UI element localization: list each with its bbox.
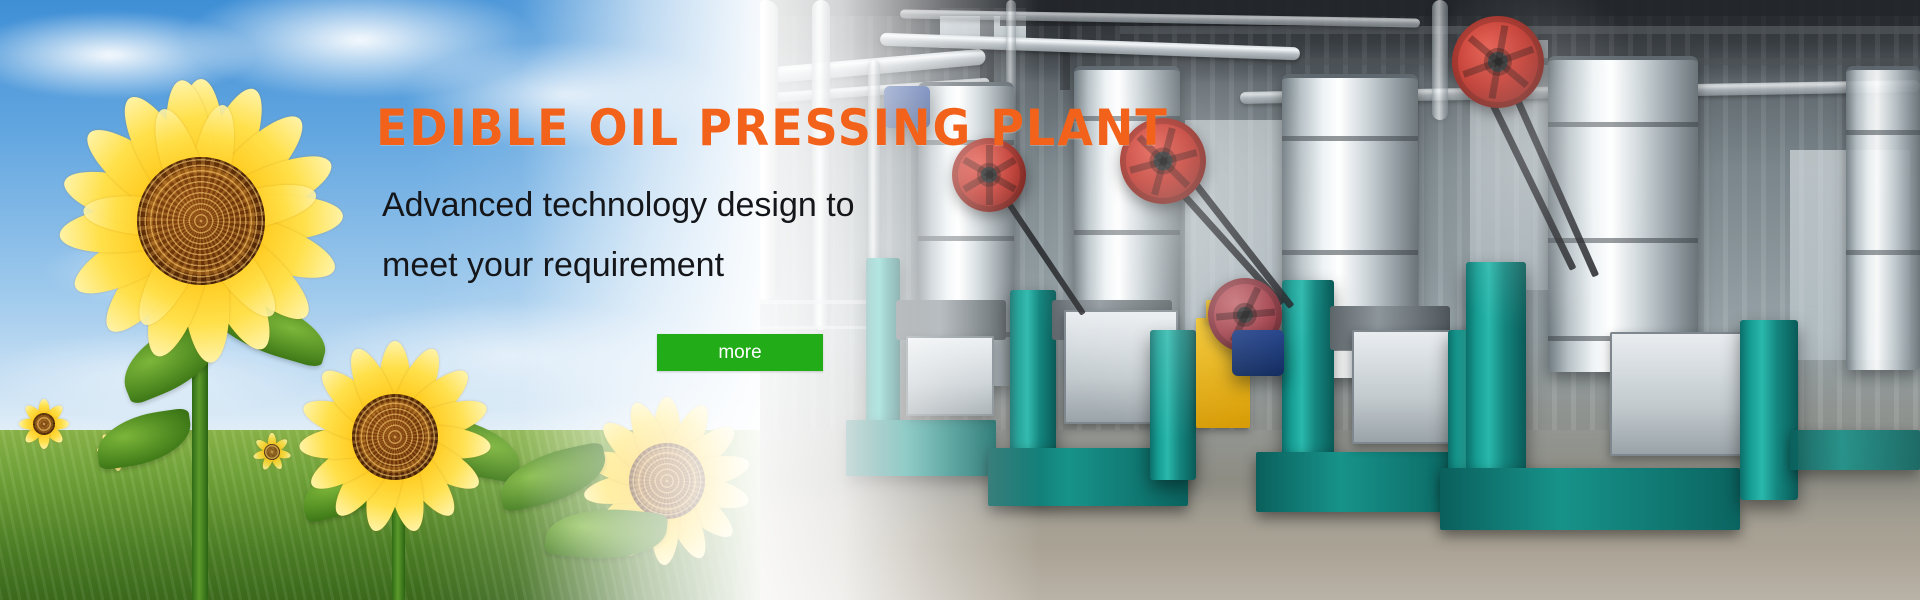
banner-headline: EDIBLE OIL PRESSING PLANT <box>376 103 1169 153</box>
banner-copy: EDIBLE OIL PRESSING PLANT Advanced techn… <box>0 0 1920 600</box>
banner-subtitle-line2: meet your requirement <box>382 248 724 282</box>
hero-banner: EDIBLE OIL PRESSING PLANT Advanced techn… <box>0 0 1920 600</box>
more-button[interactable]: more <box>657 334 823 371</box>
banner-subtitle-line1: Advanced technology design to <box>382 188 855 222</box>
